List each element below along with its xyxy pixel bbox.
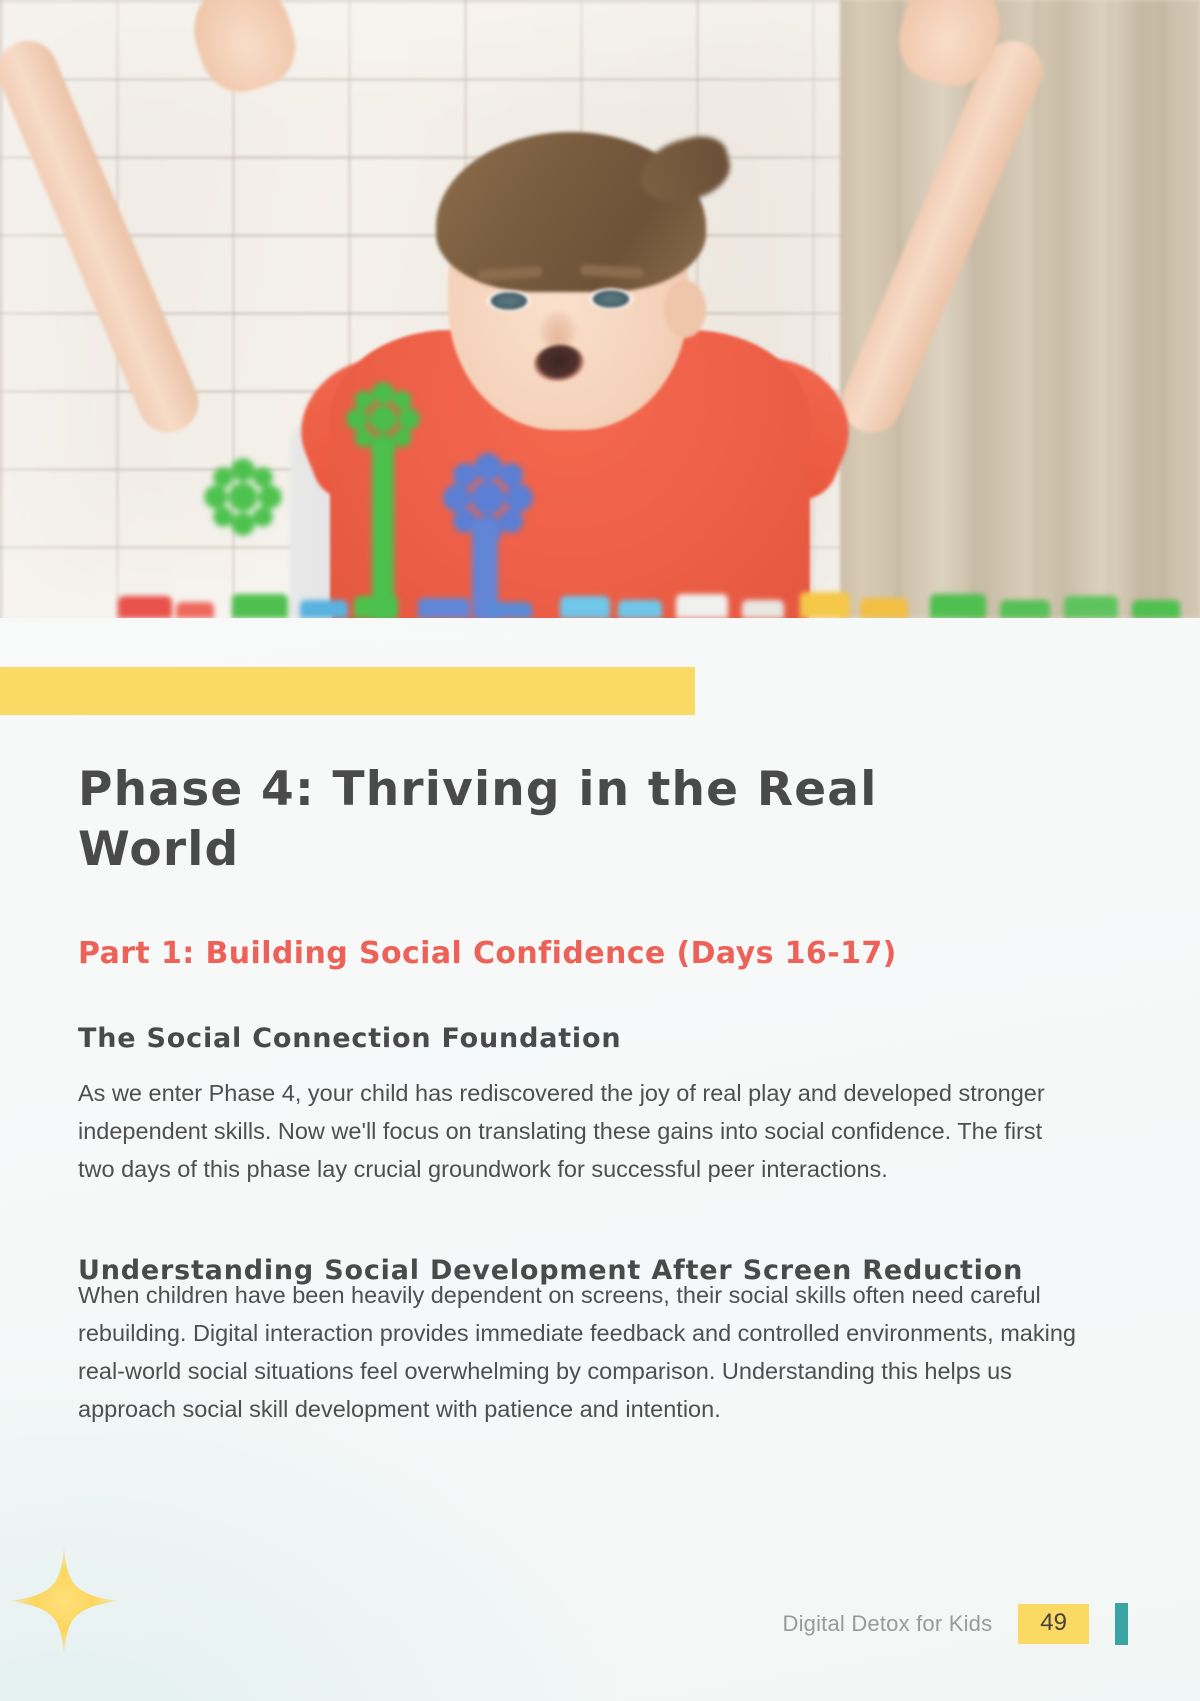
toy-block xyxy=(300,600,348,618)
toy-block xyxy=(742,600,784,618)
toy-block xyxy=(232,594,288,618)
toy-blocks-row xyxy=(0,572,1200,618)
page-footer: Digital Detox for Kids 49 xyxy=(782,1603,1128,1645)
hero-photo xyxy=(0,0,1200,618)
toy-block xyxy=(560,596,610,618)
child-left-eye xyxy=(486,290,532,312)
footer-book-title: Digital Detox for Kids xyxy=(782,1611,992,1637)
toy-block xyxy=(354,596,398,618)
page-title: Phase 4: Thriving in the Real World xyxy=(78,760,978,880)
child-nose xyxy=(540,312,576,348)
toy-flower-green-left xyxy=(198,452,288,542)
footer-teal-tick xyxy=(1115,1603,1128,1645)
toy-block xyxy=(418,598,470,618)
page-canvas: Phase 4: Thriving in the Real World Part… xyxy=(0,0,1200,1701)
hero-scene xyxy=(0,0,1200,618)
toy-block xyxy=(486,602,532,618)
toy-block xyxy=(176,602,214,618)
toy-block xyxy=(1064,596,1118,618)
yellow-accent-bar xyxy=(0,667,695,715)
toy-block xyxy=(1132,600,1180,618)
footer-page-number: 49 xyxy=(1018,1604,1089,1643)
toy-block xyxy=(618,600,662,618)
article-content: Phase 4: Thriving in the Real World Part… xyxy=(78,760,1118,1428)
section-body-understanding-social-development: When children have been heavily dependen… xyxy=(78,1276,1078,1428)
toy-block xyxy=(1000,600,1050,618)
toy-block xyxy=(860,598,908,618)
section-body-social-connection-foundation: As we enter Phase 4, your child has redi… xyxy=(78,1074,1078,1188)
toy-block xyxy=(118,596,172,618)
toy-block xyxy=(800,592,850,618)
sparkle-star-icon xyxy=(8,1545,120,1657)
section-heading-social-connection-foundation: The Social Connection Foundation xyxy=(78,1023,1118,1054)
child-right-eye xyxy=(588,288,634,310)
child-ear xyxy=(664,280,706,338)
toy-block xyxy=(930,594,986,618)
part-title: Part 1: Building Social Confidence (Days… xyxy=(78,936,1118,971)
toy-block xyxy=(676,594,728,618)
